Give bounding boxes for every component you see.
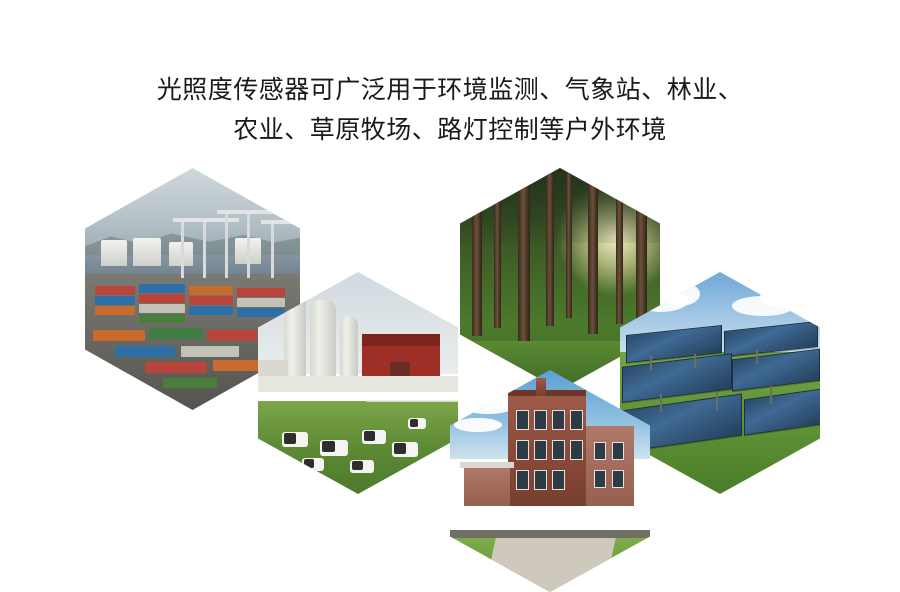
page-title-line-1: 光照度传感器可广泛用于环境监测、气象站、林业、 [0,70,900,110]
page-title: 光照度传感器可广泛用于环境监测、气象站、林业、 农业、草原牧场、路灯控制等户外环… [0,70,900,150]
hexagon-image-collage [0,160,900,560]
page-title-line-2: 农业、草原牧场、路灯控制等户外环境 [0,110,900,150]
